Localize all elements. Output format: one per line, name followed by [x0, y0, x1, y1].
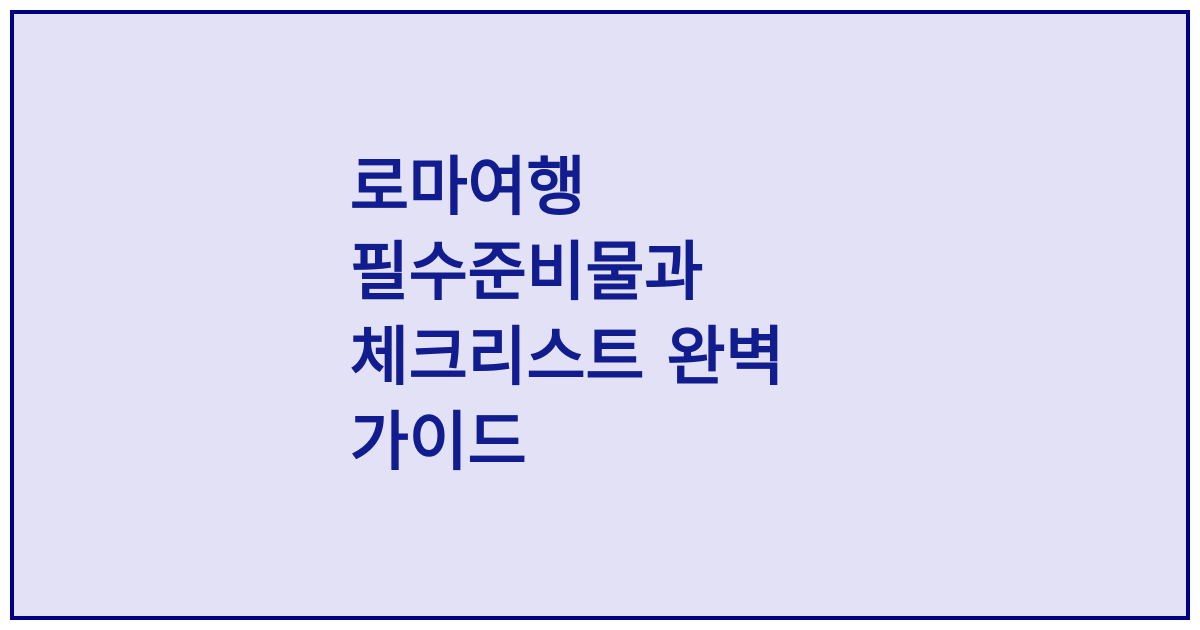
headline-line-3: 체크리스트 완벽 — [350, 316, 910, 401]
headline-line-4: 가이드 — [350, 401, 910, 486]
headline-line-1: 로마여행 — [350, 146, 910, 231]
headline-block: 로마여행 필수준비물과 체크리스트 완벽 가이드 — [350, 146, 910, 486]
framed-card: 로마여행 필수준비물과 체크리스트 완벽 가이드 — [10, 10, 1190, 620]
thumbnail-canvas: 로마여행 필수준비물과 체크리스트 완벽 가이드 — [0, 0, 1200, 630]
headline-line-2: 필수준비물과 — [350, 231, 910, 316]
